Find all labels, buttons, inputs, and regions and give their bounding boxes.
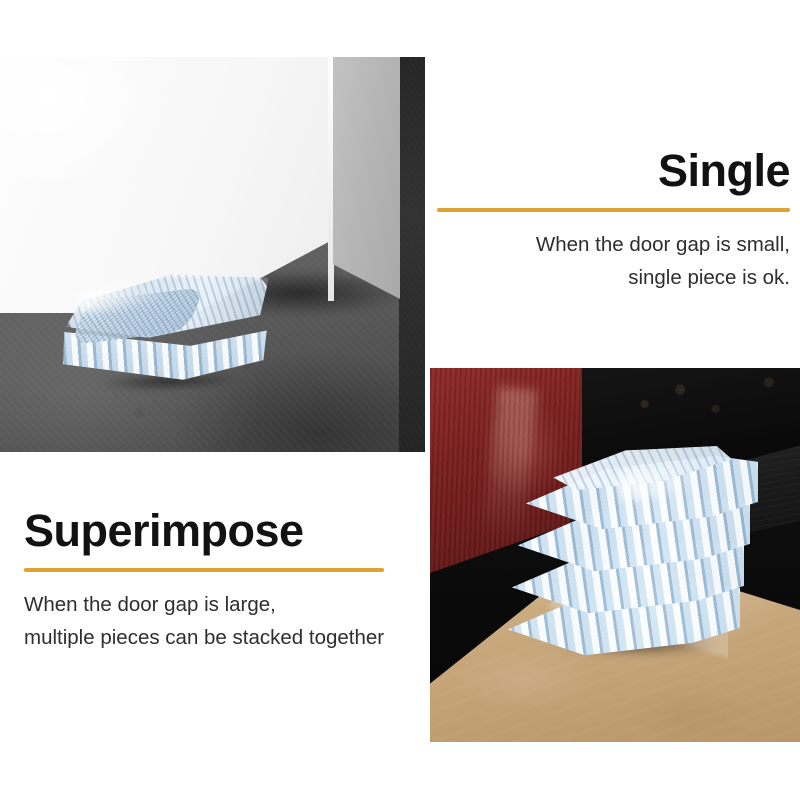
white-door-with-single-wedge-photo: [0, 57, 425, 452]
single-text-block: Single When the door gap is small, singl…: [370, 148, 790, 294]
red-door-with-stacked-wedges-photo: [430, 368, 800, 742]
single-door-wedge: [56, 271, 280, 399]
infographic-canvas: Single When the door gap is small, singl…: [0, 0, 800, 800]
stacked-door-wedges: [508, 456, 753, 656]
single-body-line-1: When the door gap is small,: [370, 228, 790, 261]
superimpose-accent-rule: [24, 568, 384, 572]
superimpose-body-line-2: multiple pieces can be stacked together: [24, 621, 444, 654]
single-accent-rule: [437, 208, 790, 212]
superimpose-text-block: Superimpose When the door gap is large, …: [24, 508, 444, 654]
single-body-line-2: single piece is ok.: [370, 261, 790, 294]
single-heading: Single: [370, 148, 790, 194]
superimpose-heading: Superimpose: [24, 508, 444, 554]
superimpose-body-line-1: When the door gap is large,: [24, 588, 444, 621]
